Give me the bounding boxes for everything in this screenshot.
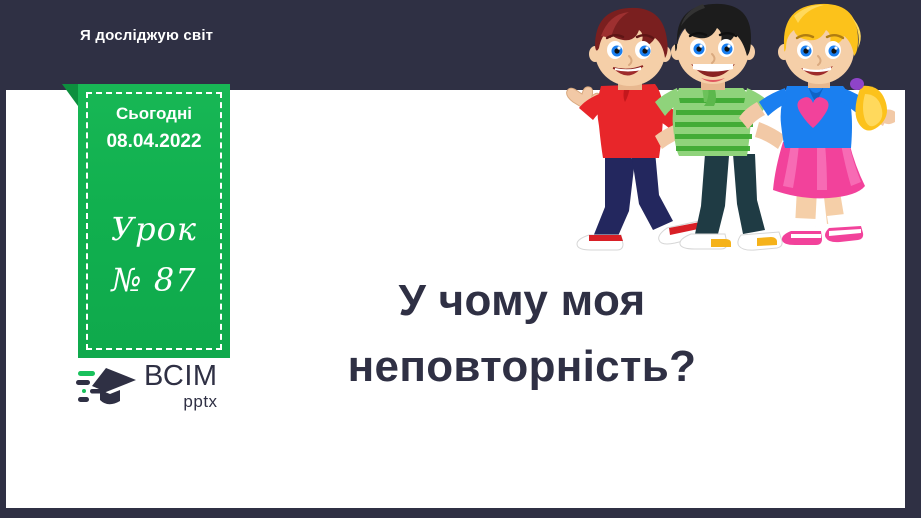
lesson-card-lesson-word: Урок [78, 210, 230, 248]
lesson-card-lesson-number: № 87 [78, 261, 230, 299]
brand-subname: pptx [144, 393, 218, 410]
brand-logo[interactable]: ВСІМ pptx [76, 362, 236, 410]
lesson-card-today-label: Сьогодні [78, 104, 230, 124]
graduation-cap-icon [76, 364, 140, 408]
brand-name: ВСІМ [144, 360, 218, 392]
slide-root: Я досліджую світ [0, 0, 921, 518]
lesson-card: Сьогодні 08.04.2022 Урок № 87 [78, 84, 230, 358]
lesson-card-date: 08.04.2022 [78, 131, 230, 153]
page-title-line-1: У чому моя [262, 268, 782, 334]
page-title-line-2: неповторність? [262, 334, 782, 400]
page-title: У чому моя неповторність? [262, 268, 782, 400]
three-children-illustration [565, 2, 895, 260]
subject-title: Я досліджую світ [80, 27, 213, 44]
child-boy-green [655, 4, 785, 250]
